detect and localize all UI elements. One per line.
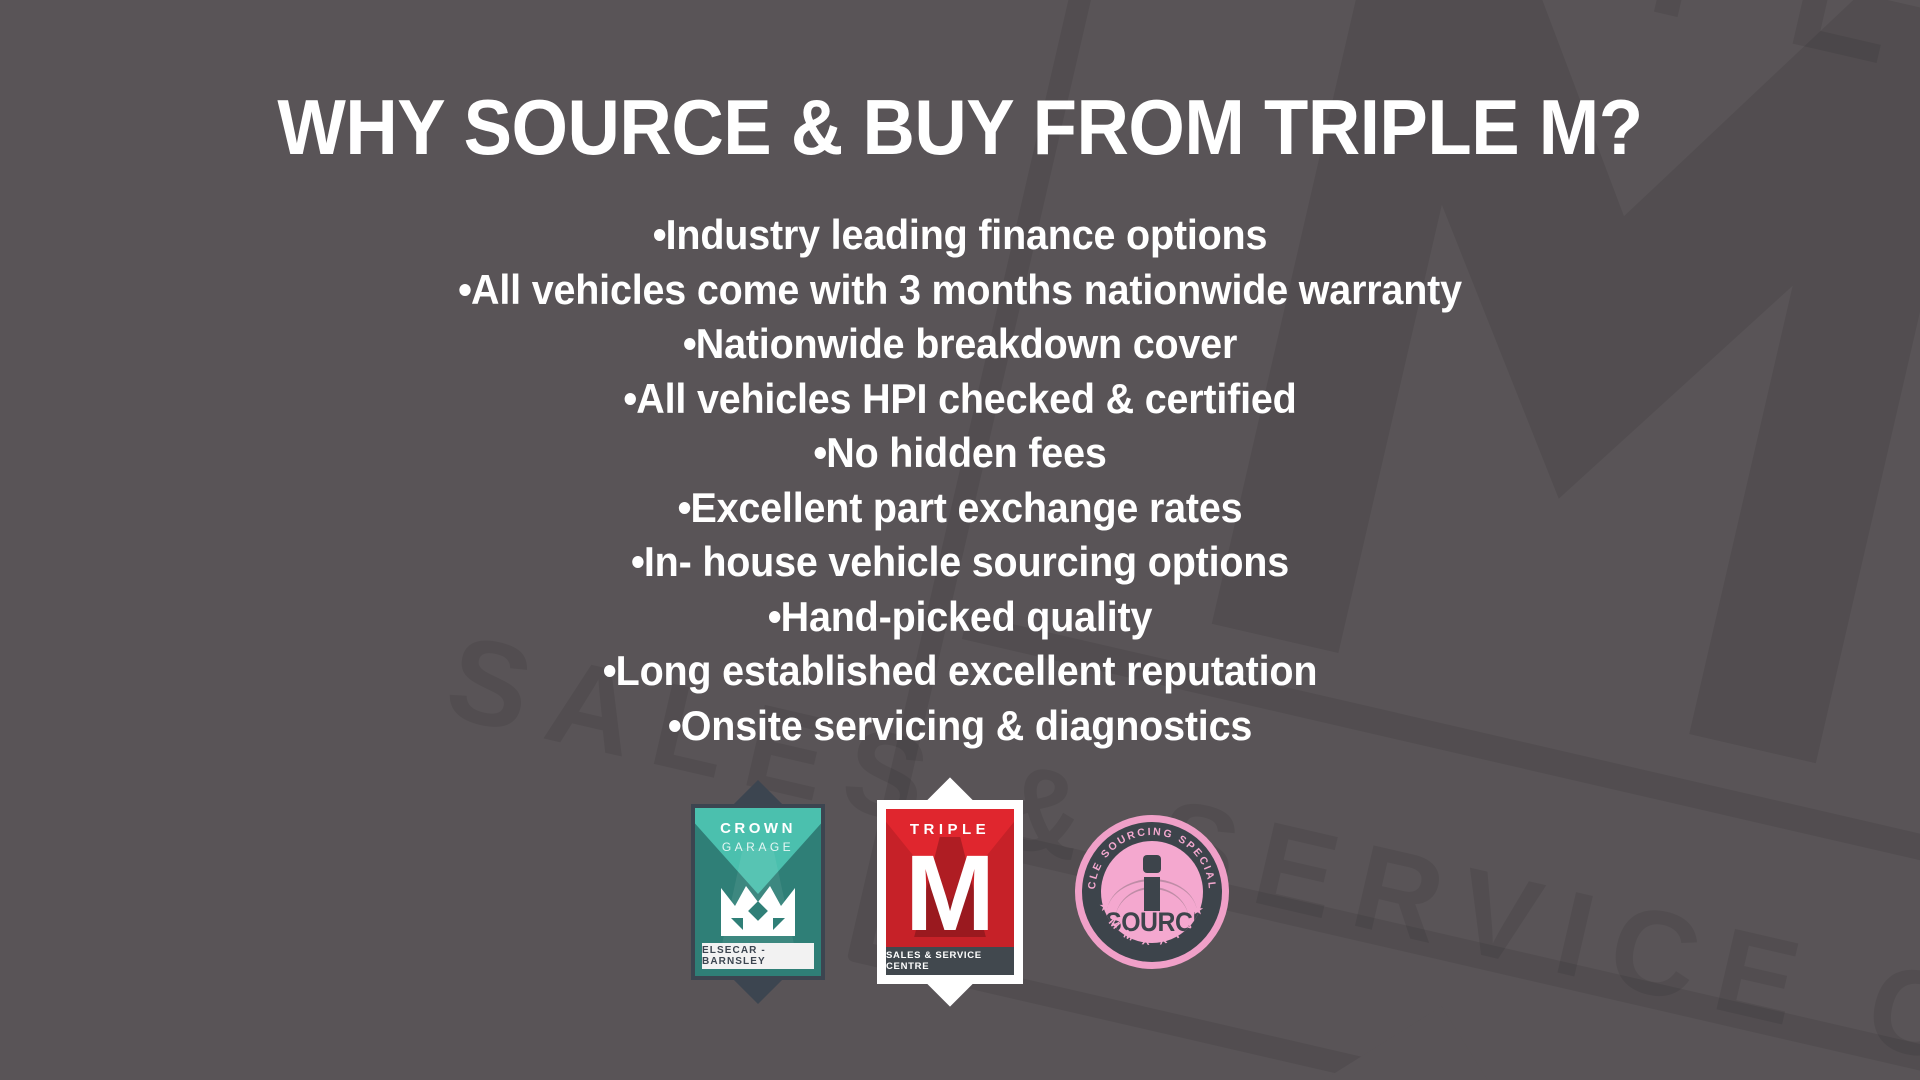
crown-icon [721, 882, 795, 936]
isource-ring-text: VEHICLE SOURCING SPECIALISTS ★ M M X X I… [1075, 815, 1229, 969]
benefit-item: •Onsite servicing & diagnostics [58, 699, 1863, 754]
benefit-label: No hidden fees [826, 429, 1106, 476]
benefit-label: Onsite servicing & diagnostics [681, 702, 1252, 749]
benefit-item: •Excellent part exchange rates [58, 481, 1863, 536]
triple-m-logo: TRIPLE M SALES & SERVICE CENTRE [877, 800, 1023, 984]
triple-m-tagline-text: SALES & SERVICE CENTRE [886, 950, 1014, 972]
crown-garage-logo: CROWN GARAGE ELSECAR - BARNSLEY [691, 804, 825, 980]
crown-subwordmark: GARAGE [695, 840, 821, 854]
bullet-icon: • [668, 702, 681, 749]
crown-location-label: ELSECAR - BARNSLEY [702, 943, 814, 969]
benefit-item: •All vehicles HPI checked & certified [58, 372, 1863, 427]
page-title: WHY SOURCE & BUY FROM TRIPLE M? [277, 88, 1642, 166]
benefit-label: Nationwide breakdown cover [696, 320, 1237, 367]
benefit-item: •All vehicles come with 3 months nationw… [58, 263, 1863, 318]
benefit-item: •In- house vehicle sourcing options [58, 535, 1863, 590]
benefit-item: •Hand-picked quality [58, 590, 1863, 645]
benefit-item: •Long established excellent reputation [58, 644, 1863, 699]
crown-location-text: ELSECAR - BARNSLEY [702, 945, 814, 967]
bullet-icon: • [683, 320, 696, 367]
bullet-icon: • [631, 538, 644, 585]
benefit-label: Excellent part exchange rates [690, 484, 1242, 531]
benefit-label: All vehicles come with 3 months nationwi… [471, 266, 1462, 313]
crown-frame: CROWN GARAGE ELSECAR - BARNSLEY [691, 804, 825, 980]
benefit-item: •No hidden fees [58, 426, 1863, 481]
benefit-label: Industry leading finance options [666, 211, 1268, 258]
bullet-icon: • [813, 429, 826, 476]
benefit-item: •Nationwide breakdown cover [58, 317, 1863, 372]
triple-m-tagline-bar: SALES & SERVICE CENTRE [886, 947, 1014, 975]
isource-arc-top-text: VEHICLE SOURCING SPECIALISTS [1075, 815, 1218, 891]
bullet-icon: • [678, 484, 691, 531]
benefit-label: In- house vehicle sourcing options [644, 538, 1289, 585]
crown-wordmark: CROWN [695, 820, 821, 837]
benefit-label: Hand-picked quality [781, 593, 1153, 640]
benefit-label: Long established excellent reputation [616, 647, 1318, 694]
bullet-icon: • [623, 375, 636, 422]
logo-row: CROWN GARAGE ELSECAR - BARNSLEY [0, 800, 1920, 984]
triple-m-frame: TRIPLE M SALES & SERVICE CENTRE [877, 800, 1023, 984]
benefits-list: •Industry leading finance options•All ve… [0, 208, 1920, 753]
isource-logo: SOURCE VEHICLE SOURCING SPECIALISTS ★ M … [1075, 815, 1229, 969]
benefit-label: All vehicles HPI checked & certified [636, 375, 1296, 422]
triple-m-panel: TRIPLE M SALES & SERVICE CENTRE [886, 809, 1014, 975]
isource-arc-bottom-text: ★ M M X X I V ★ [1097, 899, 1207, 948]
triple-m-letter: M [886, 839, 1014, 947]
bullet-icon: • [653, 211, 666, 258]
bullet-icon: • [768, 593, 781, 640]
bullet-icon: • [603, 647, 616, 694]
benefit-item: •Industry leading finance options [58, 208, 1863, 263]
slide-content: WHY SOURCE & BUY FROM TRIPLE M? •Industr… [0, 0, 1920, 1080]
bullet-icon: • [458, 266, 471, 313]
